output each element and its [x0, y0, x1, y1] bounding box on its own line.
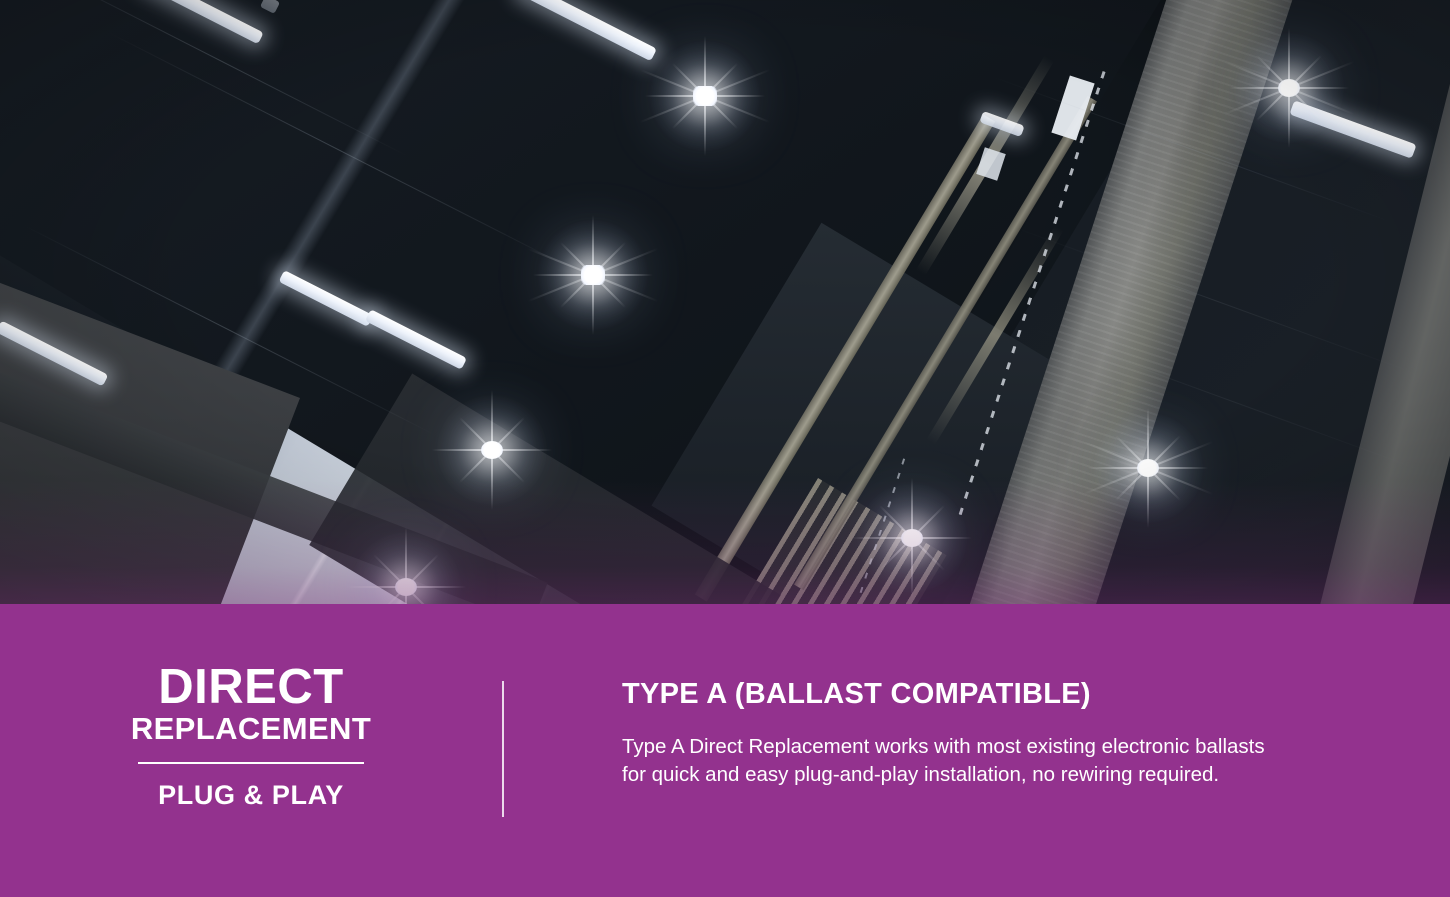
product-label-block: DIRECT REPLACEMENT PLUG & PLAY	[0, 664, 502, 811]
description-block: TYPE A (BALLAST COMPATIBLE) Type A Direc…	[622, 678, 1322, 789]
product-title-line2: REPLACEMENT	[0, 713, 502, 746]
product-title-line1: DIRECT	[0, 664, 502, 711]
vertical-divider	[502, 681, 504, 817]
warehouse-ceiling-photo	[0, 0, 1450, 604]
description-body: Type A Direct Replacement works with mos…	[622, 733, 1294, 789]
promo-banner: DIRECT REPLACEMENT PLUG & PLAY TYPE A (B…	[0, 0, 1450, 897]
photo-color-cast	[0, 480, 1450, 604]
caption-band: DIRECT REPLACEMENT PLUG & PLAY TYPE A (B…	[0, 604, 1450, 897]
product-subtitle: PLUG & PLAY	[0, 780, 502, 811]
description-headline: TYPE A (BALLAST COMPATIBLE)	[622, 678, 1322, 711]
title-divider-rule	[138, 762, 364, 764]
